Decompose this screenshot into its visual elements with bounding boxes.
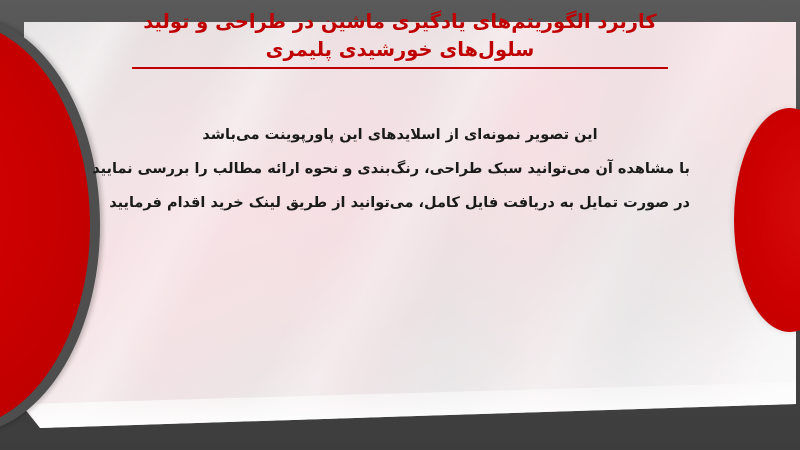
slide-body-text: این تصویر نمونه‌ای از اسلایدهای این پاور… [110, 118, 690, 220]
presentation-slide: کاربرد الگوریتم‌های یادگیری ماشین در طرا… [0, 0, 800, 450]
background-texture-bands [24, 22, 796, 428]
slide-body-line-3: در صورت تمایل به دریافت فایل کامل، می‌تو… [110, 186, 690, 220]
title-underline-rule [132, 67, 668, 69]
slide-canvas [24, 22, 796, 428]
slide-title-line-1: کاربرد الگوریتم‌های یادگیری ماشین در طرا… [110, 8, 690, 36]
slide-body-line-2: با مشاهده آن می‌توانید سبک طراحی، رنگ‌بن… [110, 152, 690, 186]
bottom-highlight-strip [24, 358, 796, 428]
slide-title: کاربرد الگوریتم‌های یادگیری ماشین در طرا… [110, 8, 690, 69]
slide-body-line-1: این تصویر نمونه‌ای از اسلایدهای این پاور… [110, 118, 690, 152]
slide-title-line-2: سلول‌های خورشیدی پلیمری [110, 36, 690, 64]
